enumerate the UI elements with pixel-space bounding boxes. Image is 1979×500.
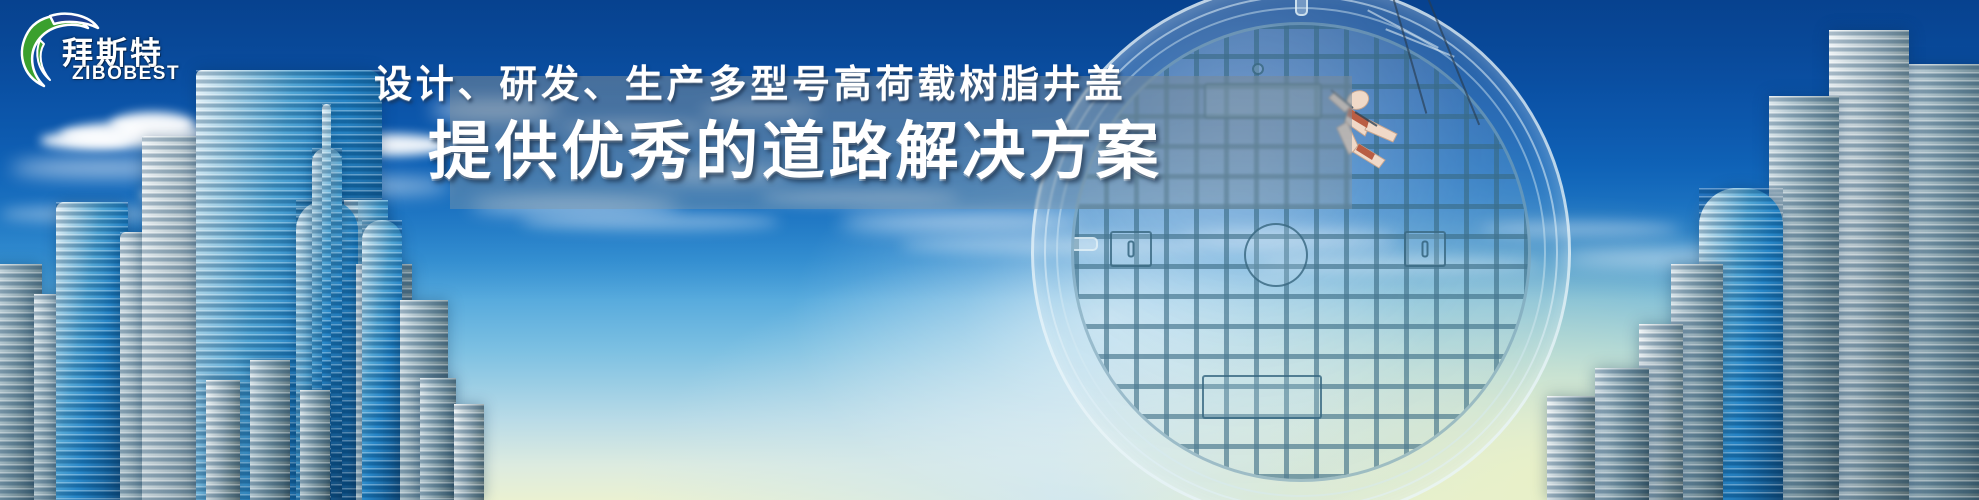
logo-english-name: ZIBOBEST <box>72 63 180 85</box>
headline-line-1: 设计、研发、生产多型号高荷载树脂井盖 <box>374 62 1366 108</box>
headline-block: 设计、研发、生产多型号高荷载树脂井盖 提供优秀的道路解决方案 <box>366 62 1366 192</box>
headline-line-2: 提供优秀的道路解决方案 <box>428 112 1366 192</box>
city-skyline-right <box>1509 30 1979 500</box>
zibobest-logo[interactable]: 拜斯特 ZIBOBEST <box>10 6 160 94</box>
promotional-banner: 设计、研发、生产多型号高荷载树脂井盖 提供优秀的道路解决方案 拜斯特 ZIBOB… <box>0 0 1979 500</box>
